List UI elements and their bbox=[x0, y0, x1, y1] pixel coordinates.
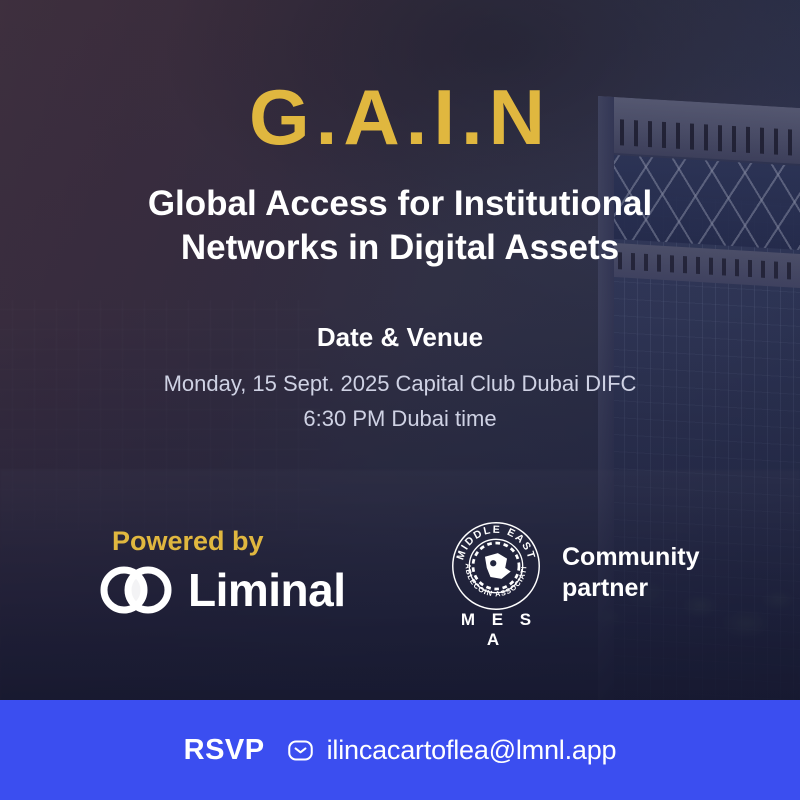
mesa-acronym: M E S A bbox=[444, 610, 548, 650]
date-venue-heading: Date & Venue bbox=[317, 322, 483, 353]
partners-row: Powered by Liminal MIDDLE bbox=[0, 512, 800, 642]
poster-content: G.A.I.N Global Access for Institutional … bbox=[0, 0, 800, 800]
mesa-logo: MIDDLE EAST STABLECOIN ASSOCIATION M E S… bbox=[444, 520, 548, 650]
powered-by-label: Powered by bbox=[112, 526, 264, 557]
event-title: G.A.I.N bbox=[249, 78, 551, 156]
mail-envelope-icon bbox=[287, 737, 314, 764]
date-venue-line-2: 6:30 PM Dubai time bbox=[303, 402, 496, 435]
liminal-wordmark: Liminal bbox=[188, 567, 346, 613]
rsvp-contact[interactable]: ilincacartoflea@lmnl.app bbox=[287, 735, 617, 766]
mesa-circular-emblem-icon: MIDDLE EAST STABLECOIN ASSOCIATION bbox=[450, 520, 542, 612]
community-partner-line1: Community bbox=[562, 542, 732, 573]
rsvp-bar: RSVP ilincacartoflea@lmnl.app bbox=[0, 700, 800, 800]
community-partner-label: Community partner bbox=[562, 542, 732, 603]
event-subtitle-line2: Networks in Digital Assets bbox=[148, 226, 652, 270]
date-venue-line-1: Monday, 15 Sept. 2025 Capital Club Dubai… bbox=[164, 367, 637, 400]
event-subtitle-line1: Global Access for Institutional bbox=[148, 182, 652, 226]
community-partner-line2: partner bbox=[562, 573, 732, 604]
rsvp-label: RSVP bbox=[184, 734, 265, 767]
event-poster: G.A.I.N Global Access for Institutional … bbox=[0, 0, 800, 800]
event-subtitle: Global Access for Institutional Networks… bbox=[148, 182, 652, 270]
liminal-interlocking-rings-icon bbox=[100, 566, 174, 614]
rsvp-email-address[interactable]: ilincacartoflea@lmnl.app bbox=[327, 735, 617, 766]
liminal-logo: Liminal bbox=[100, 566, 346, 614]
